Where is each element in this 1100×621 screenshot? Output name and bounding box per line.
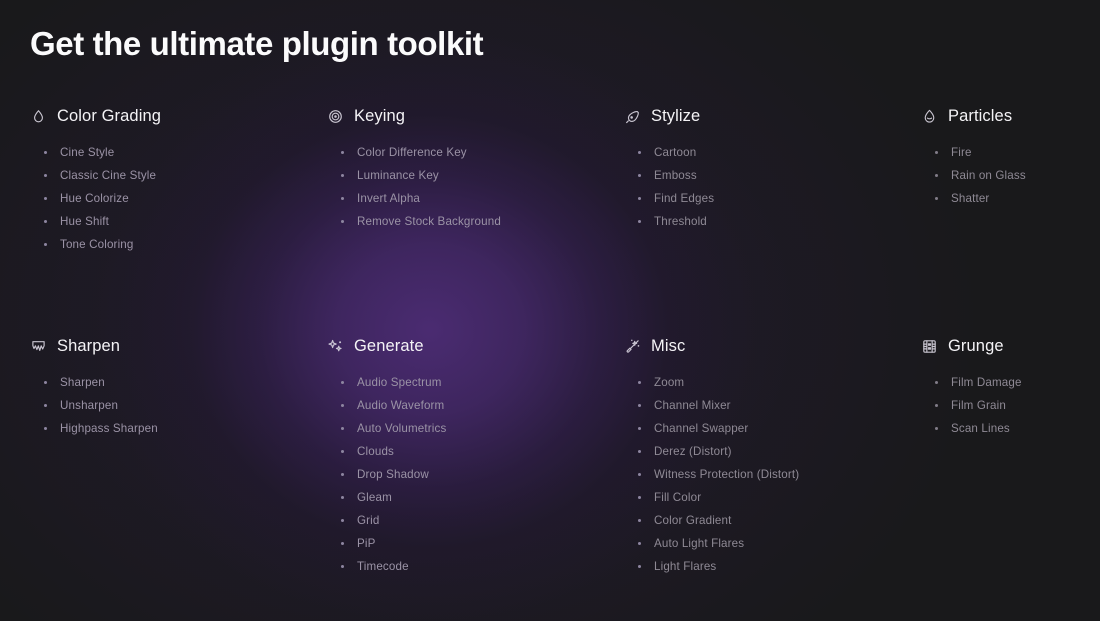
list-item[interactable]: Shatter — [935, 187, 1100, 210]
category-header: Sharpen — [30, 334, 310, 358]
list-item[interactable]: Channel Swapper — [638, 417, 904, 440]
sawtooth-icon — [30, 338, 47, 355]
category-header: Grunge — [921, 334, 1100, 358]
category-grid: Color GradingCine StyleClassic Cine Styl… — [30, 104, 1070, 578]
list-item[interactable]: Auto Volumetrics — [341, 417, 607, 440]
category-stylize: StylizeCartoonEmbossFind EdgesThreshold — [624, 104, 904, 256]
category-color-grading: Color GradingCine StyleClassic Cine Styl… — [30, 104, 310, 256]
list-item[interactable]: Scan Lines — [935, 417, 1100, 440]
list-item[interactable]: PiP — [341, 532, 607, 555]
category-header: Color Grading — [30, 104, 310, 128]
category-title: Keying — [354, 106, 405, 126]
droplet-icon — [30, 108, 47, 125]
category-particles: ParticlesFireRain on GlassShatter — [921, 104, 1100, 256]
list-item[interactable]: Audio Waveform — [341, 394, 607, 417]
page-title: Get the ultimate plugin toolkit — [30, 24, 483, 64]
brush-icon — [624, 108, 641, 125]
category-title: Color Grading — [57, 106, 161, 126]
list-item[interactable]: Witness Protection (Distort) — [638, 463, 904, 486]
list-item[interactable]: Fire — [935, 141, 1100, 164]
category-header: Keying — [327, 104, 607, 128]
category-title: Misc — [651, 336, 685, 356]
category-title: Grunge — [948, 336, 1004, 356]
plugin-list: Audio SpectrumAudio WaveformAuto Volumet… — [341, 371, 607, 578]
magic-wand-icon — [624, 338, 641, 355]
list-item[interactable]: Grid — [341, 509, 607, 532]
plugin-list: CartoonEmbossFind EdgesThreshold — [638, 141, 904, 233]
plugin-toolkit-page: Get the ultimate plugin toolkit Color Gr… — [0, 0, 1100, 621]
list-item[interactable]: Color Gradient — [638, 509, 904, 532]
flame-icon — [921, 108, 938, 125]
category-title: Stylize — [651, 106, 700, 126]
category-title: Particles — [948, 106, 1012, 126]
sparkles-icon — [327, 338, 344, 355]
category-sharpen: SharpenSharpenUnsharpenHighpass Sharpen — [30, 334, 310, 578]
list-item[interactable]: Clouds — [341, 440, 607, 463]
list-item[interactable]: Gleam — [341, 486, 607, 509]
list-item[interactable]: Sharpen — [44, 371, 310, 394]
list-item[interactable]: Derez (Distort) — [638, 440, 904, 463]
category-header: Generate — [327, 334, 607, 358]
plugin-list: ZoomChannel MixerChannel SwapperDerez (D… — [638, 371, 904, 578]
plugin-list: SharpenUnsharpenHighpass Sharpen — [44, 371, 310, 440]
list-item[interactable]: Threshold — [638, 210, 904, 233]
category-title: Sharpen — [57, 336, 120, 356]
category-misc: MiscZoomChannel MixerChannel SwapperDere… — [624, 334, 904, 578]
list-item[interactable]: Highpass Sharpen — [44, 417, 310, 440]
plugin-list: Film DamageFilm GrainScan Lines — [935, 371, 1100, 440]
plugin-list: Cine StyleClassic Cine StyleHue Colorize… — [44, 141, 310, 256]
plugin-list: FireRain on GlassShatter — [935, 141, 1100, 210]
list-item[interactable]: Light Flares — [638, 555, 904, 578]
category-title: Generate — [354, 336, 424, 356]
list-item[interactable]: Hue Shift — [44, 210, 310, 233]
list-item[interactable]: Classic Cine Style — [44, 164, 310, 187]
list-item[interactable]: Timecode — [341, 555, 607, 578]
film-strip-icon — [921, 338, 938, 355]
list-item[interactable]: Cartoon — [638, 141, 904, 164]
category-header: Stylize — [624, 104, 904, 128]
list-item[interactable]: Film Damage — [935, 371, 1100, 394]
category-keying: KeyingColor Difference KeyLuminance KeyI… — [327, 104, 607, 256]
list-item[interactable]: Audio Spectrum — [341, 371, 607, 394]
list-item[interactable]: Emboss — [638, 164, 904, 187]
list-item[interactable]: Zoom — [638, 371, 904, 394]
category-header: Misc — [624, 334, 904, 358]
list-item[interactable]: Hue Colorize — [44, 187, 310, 210]
list-item[interactable]: Invert Alpha — [341, 187, 607, 210]
list-item[interactable]: Drop Shadow — [341, 463, 607, 486]
list-item[interactable]: Film Grain — [935, 394, 1100, 417]
list-item[interactable]: Channel Mixer — [638, 394, 904, 417]
list-item[interactable]: Luminance Key — [341, 164, 607, 187]
list-item[interactable]: Auto Light Flares — [638, 532, 904, 555]
list-item[interactable]: Unsharpen — [44, 394, 310, 417]
list-item[interactable]: Rain on Glass — [935, 164, 1100, 187]
category-grunge: GrungeFilm DamageFilm GrainScan Lines — [921, 334, 1100, 578]
category-header: Particles — [921, 104, 1100, 128]
plugin-list: Color Difference KeyLuminance KeyInvert … — [341, 141, 607, 233]
list-item[interactable]: Tone Coloring — [44, 233, 310, 256]
list-item[interactable]: Find Edges — [638, 187, 904, 210]
list-item[interactable]: Fill Color — [638, 486, 904, 509]
list-item[interactable]: Cine Style — [44, 141, 310, 164]
list-item[interactable]: Remove Stock Background — [341, 210, 607, 233]
target-icon — [327, 108, 344, 125]
category-generate: GenerateAudio SpectrumAudio WaveformAuto… — [327, 334, 607, 578]
list-item[interactable]: Color Difference Key — [341, 141, 607, 164]
